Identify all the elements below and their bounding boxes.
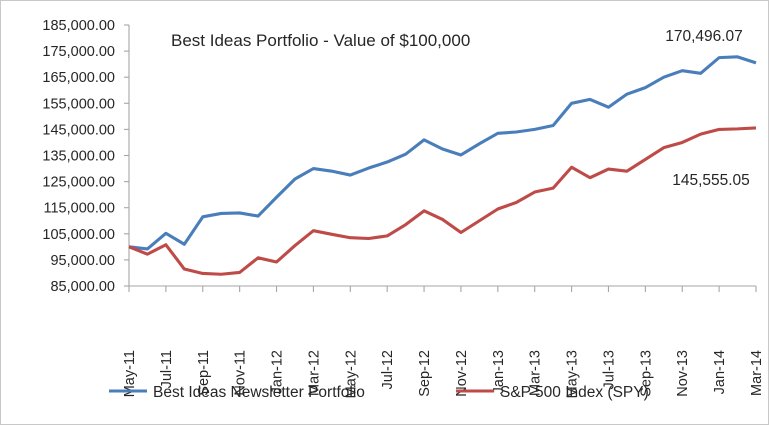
y-axis-tick-marks bbox=[124, 25, 129, 286]
x-axis-tick-marks bbox=[129, 286, 756, 292]
y-axis-tick-label: 165,000.00 bbox=[42, 70, 115, 86]
y-axis-tick-label: 155,000.00 bbox=[42, 96, 115, 112]
line-chart: 185,000.00175,000.00165,000.00155,000.00… bbox=[1, 1, 769, 425]
y-axis-tick-label: 135,000.00 bbox=[42, 149, 115, 165]
y-axis-tick-label: 95,000.00 bbox=[50, 253, 115, 269]
x-axis-tick-label: Jul-11 bbox=[159, 350, 175, 388]
blue-series-end-value-label: 170,496.07 bbox=[665, 28, 743, 45]
x-axis-tick-label: Jul-12 bbox=[380, 350, 396, 390]
legend-entry-label[interactable]: S&P 500 Index (SPY) bbox=[500, 384, 649, 401]
red-series-end-value-label: 145,555.05 bbox=[672, 172, 750, 189]
y-axis-tick-label: 185,000.00 bbox=[42, 18, 115, 34]
chart-legend: Best Ideas Newsletter PortfolioS&P 500 I… bbox=[109, 384, 649, 401]
x-axis-tick-label: Nov-13 bbox=[675, 350, 691, 397]
x-axis-tick-label: Sep-12 bbox=[417, 350, 433, 397]
y-axis-tick-label: 145,000.00 bbox=[42, 122, 115, 138]
x-axis-tick-label: Mar-14 bbox=[749, 350, 765, 396]
y-axis-tick-labels: 185,000.00175,000.00165,000.00155,000.00… bbox=[42, 18, 115, 295]
y-axis-tick-label: 175,000.00 bbox=[42, 44, 115, 60]
chart-container: 185,000.00175,000.00165,000.00155,000.00… bbox=[0, 0, 769, 425]
y-axis-tick-label: 105,000.00 bbox=[42, 227, 115, 243]
y-axis-tick-label: 125,000.00 bbox=[42, 175, 115, 191]
y-axis-tick-label: 115,000.00 bbox=[44, 201, 116, 217]
legend-entry-label[interactable]: Best Ideas Newsletter Portfolio bbox=[153, 384, 365, 401]
y-axis-tick-label: 85,000.00 bbox=[50, 279, 115, 295]
data-series-group bbox=[129, 57, 756, 274]
x-axis-tick-label: Jan-14 bbox=[712, 350, 728, 394]
chart-title: Best Ideas Portfolio - Value of $100,000 bbox=[171, 31, 470, 50]
